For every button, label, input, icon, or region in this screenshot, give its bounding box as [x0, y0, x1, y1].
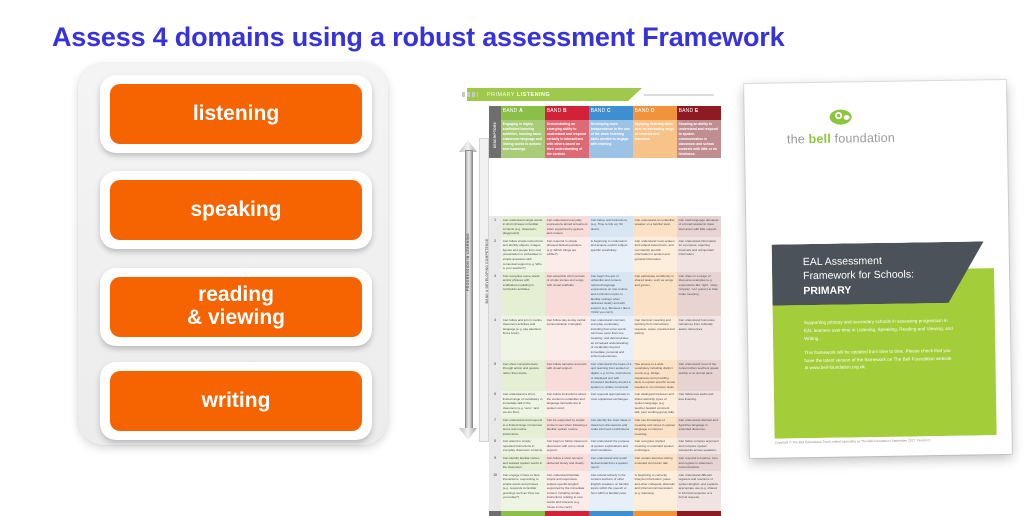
domain-card-writing[interactable]: writing: [100, 362, 372, 440]
progression-label: PROGRESSION IN LEARNING: [466, 224, 470, 300]
domain-button-reading-and-viewing[interactable]: reading & viewing: [110, 277, 362, 337]
band-header-e: BAND E: [677, 106, 721, 120]
table-row: 5Can show comprehension through action a…: [489, 360, 721, 390]
descriptor-cell: Can recognise some words and/or phrases …: [501, 272, 545, 316]
banner-line-3: PRIMARY: [803, 284, 851, 297]
descriptor-cell: Can understand information for a purpose…: [677, 237, 721, 272]
row-number: 6: [489, 391, 501, 417]
table-row: 2Can follow simple instructions and iden…: [489, 237, 721, 272]
band-footer-row: [489, 511, 721, 516]
descriptor-cell: Can identify the main ideas in classroom…: [589, 417, 633, 438]
descriptor-cell: Can understand abstract and figurative l…: [677, 417, 721, 438]
descriptor-cell: Can understand humorous references from …: [677, 316, 721, 360]
band-description-e: Showing an ability to understand and res…: [677, 120, 721, 158]
grid-tab-prefix: PRIMARY: [487, 92, 517, 98]
descriptor-cell: Can begin to follow classroom discussion…: [545, 438, 589, 455]
grid-tab-title: LISTENING: [517, 92, 550, 98]
band-footer-cell: [589, 511, 633, 516]
descriptor-cell: Can engage in face-to-face interactions,…: [501, 471, 545, 511]
document-copyright: Copyright © The Bell Educational Trust L…: [775, 437, 997, 444]
band-header-d: BAND D: [633, 106, 677, 120]
descriptor-cell: Can respond to nuance, tone and register…: [677, 454, 721, 471]
descriptor-cell: Can understand the purpose of spoken exp…: [589, 438, 633, 455]
band-footer-cell: [633, 511, 677, 516]
descriptor-cell: Can understand most spoken and subject-b…: [633, 237, 677, 272]
descriptor-cell: Can understand and respond to a limited …: [501, 417, 545, 438]
descriptor-cell: Can follow complex argument and compare …: [677, 438, 721, 455]
document-footer: Copyright © The Bell Educational Trust L…: [775, 435, 997, 444]
descriptor-cell: Can follow oral instructions (e.g. Time …: [589, 216, 633, 237]
descriptor-row-label-text: DESCRIPTORS: [493, 122, 497, 148]
descriptor-cell: Can show comprehension through action an…: [501, 360, 545, 390]
arrow-head-down-icon: [459, 428, 477, 440]
table-row: 10Can engage in face-to-face interaction…: [489, 471, 721, 511]
bell-logo-mark-icon: [829, 108, 853, 128]
document-paragraph-2: This framework will be updated from time…: [804, 346, 954, 372]
descriptor-cell: Can understand different registers and r…: [677, 471, 721, 511]
descriptor-cell: Can attend to simple repeated instructio…: [501, 438, 545, 455]
band-header-a: BAND A: [501, 106, 545, 120]
grid-tab: PRIMARY LISTENING: [467, 88, 642, 101]
descriptor-cell: Can follow simple instructions and ident…: [501, 237, 545, 272]
descriptor-cell: Can identify familiar names and isolated…: [501, 454, 545, 471]
framework-descriptor-table: 1Can understand single words in short ph…: [489, 216, 721, 516]
scale-column: BAND A DEVELOPING COMPETENCE: [479, 138, 489, 442]
domain-card-speaking[interactable]: speaking: [100, 171, 372, 249]
band-footer-spacer: [489, 511, 501, 516]
descriptor-cell: Can participate confidently in shared ta…: [633, 272, 677, 316]
descriptor-cell: Can assemble short periods of simple sto…: [545, 272, 589, 316]
descriptor-cell: Can sustain attention during extended cu…: [633, 454, 677, 471]
row-header-spacer: [489, 106, 501, 120]
band-footer-cell: [677, 511, 721, 516]
table-row: 1Can understand single words in short ph…: [489, 216, 721, 237]
table-row: 4Can follow and join in routine classroo…: [489, 316, 721, 360]
row-number: 3: [489, 272, 501, 316]
descriptor-cell: Can track language demands of a broad ac…: [677, 216, 721, 237]
row-number: 4: [489, 316, 501, 360]
band-description-d: Applying listening skills over an increa…: [633, 120, 677, 158]
band-footer-cell: [501, 511, 545, 516]
descriptor-cell: Can understand single words in short phr…: [501, 216, 545, 237]
document-paragraph-1: Supporting primary and secondary schools…: [804, 317, 954, 343]
tab-rule-decor: [644, 94, 714, 96]
row-number: 1: [489, 216, 501, 237]
descriptor-cell: Can follow instructions where the contex…: [545, 391, 589, 417]
descriptor-cell: Can respond appropriately in most unplan…: [589, 391, 633, 417]
row-number: 9: [489, 454, 501, 471]
descriptor-cell: Can understand everyday expressions aime…: [545, 216, 589, 237]
band-footer-cell: [545, 511, 589, 516]
domain-button-listening[interactable]: listening: [110, 84, 362, 144]
descriptor-cell: Can extend actively in the content-secti…: [589, 471, 633, 511]
bell-logo-text: the bell foundation: [787, 131, 895, 147]
descriptor-cell: Can use knowledge of meaning and stress …: [633, 417, 677, 438]
descriptor-cell: Can understand a short, limited range of…: [501, 391, 545, 417]
descriptor-cell: Can understand an unfamiliar speaker on …: [633, 216, 677, 237]
row-number: 2: [489, 237, 501, 272]
slide: Assess 4 domains using a robust assessme…: [0, 0, 1024, 478]
domain-card-listening[interactable]: listening: [100, 75, 372, 153]
table-row: 9Can identify familiar names and isolate…: [489, 454, 721, 471]
band-description-a: Engaging in highly-scaffolded listening …: [501, 120, 545, 158]
row-number: 8: [489, 438, 501, 455]
descriptor-cell: Can draw on a range of discourse example…: [677, 272, 721, 316]
band-header-b: BAND B: [545, 106, 589, 120]
progression-arrow-icon: PROGRESSION IN LEARNING: [458, 140, 478, 440]
descriptor-cell: Can understand the basis of a quiz learn…: [589, 360, 633, 390]
table-row: 3Can recognise some words and/or phrases…: [489, 272, 721, 316]
row-number: 5: [489, 360, 501, 390]
logo-suffix: foundation: [831, 131, 895, 146]
bell-foundation-logo: the bell foundation: [786, 108, 895, 147]
band-header-c: BAND C: [589, 106, 633, 120]
row-number: 7: [489, 417, 501, 438]
framework-grid-figure: PRIMARY LISTENING PROGRESSION IN LEARNIN…: [462, 88, 724, 448]
descriptor-cell: Can follow narrative accounts with visua…: [545, 360, 589, 390]
descriptor-cell: Can understand familiar, simple and resp…: [545, 471, 589, 511]
domain-card-reading-and-viewing[interactable]: reading & viewing: [100, 268, 372, 346]
framework-descriptor-body: 1Can understand single words in short ph…: [489, 216, 721, 516]
descriptor-cell: Can understand and recall factual detail…: [589, 454, 633, 471]
row-number: 10: [489, 471, 501, 511]
descriptor-cell: Can follow and join in routine classroom…: [501, 316, 545, 360]
descriptor-cell: Can be supported by simple context cues …: [545, 417, 589, 438]
logo-brand: bell: [808, 132, 831, 146]
descriptor-cell: Can distinguish between and follow disti…: [633, 391, 677, 417]
descriptor-cell: Can follow day-to-day verbal communicati…: [545, 316, 589, 360]
band-header-row: BAND A BAND B BAND C BAND D BAND E: [489, 106, 721, 120]
band-description-b: Demonstrating an emerging ability to und…: [545, 120, 589, 158]
page-title: Assess 4 domains using a robust assessme…: [52, 22, 784, 53]
descriptor-cell: Can respond to simple phrased factual qu…: [545, 237, 589, 272]
descriptor-cell: Can understand common, everyday vocabula…: [589, 316, 633, 360]
band-description-c: Developing more independence in the use …: [589, 120, 633, 158]
domain-button-writing[interactable]: writing: [110, 371, 362, 431]
descriptor-row-label: DESCRIPTORS: [489, 120, 501, 158]
band-description-row: DESCRIPTORS Engaging in highly-scaffolde…: [489, 120, 721, 158]
logo-prefix: the: [787, 132, 809, 146]
framework-table: BAND A BAND B BAND C BAND D BAND E DESCR…: [489, 106, 721, 158]
descriptor-cell: Can follow less audio and less listening…: [677, 391, 721, 417]
document-body-text: Supporting primary and secondary schools…: [804, 317, 955, 379]
descriptor-cell: Can understand most of the content when …: [677, 360, 721, 390]
table-row: 6Can understand a short, limited range o…: [489, 391, 721, 417]
framework-table-body: BAND A BAND B BAND C BAND D BAND E DESCR…: [489, 106, 721, 158]
table-row: 8Can attend to simple repeated instructi…: [489, 438, 721, 455]
grid-tab-label: PRIMARY LISTENING: [487, 92, 550, 98]
descriptor-cell: Can recognise implied meaning in extende…: [633, 438, 677, 455]
descriptor-cell: Has access to a wide vocabulary includin…: [633, 360, 677, 390]
framework-document-cover[interactable]: the bell foundation EAL Assessment Frame…: [744, 80, 1012, 458]
table-row: 7Can understand and respond to a limited…: [489, 417, 721, 438]
descriptor-cell: Is beginning to correctly interpret info…: [633, 471, 677, 511]
descriptor-cell: Can follow a short account delivered slo…: [545, 454, 589, 471]
descriptor-cell: Can interpret meaning and learning from …: [633, 316, 677, 360]
domain-button-speaking[interactable]: speaking: [110, 180, 362, 240]
domains-panel: listening speaking reading & viewing wri…: [78, 63, 388, 445]
descriptor-cell: Is beginning to understand and acquire e…: [589, 237, 633, 272]
tab-dashes-decor: [462, 92, 478, 97]
descriptor-cell: Can begin the gist of unfamiliar and con…: [589, 272, 633, 316]
